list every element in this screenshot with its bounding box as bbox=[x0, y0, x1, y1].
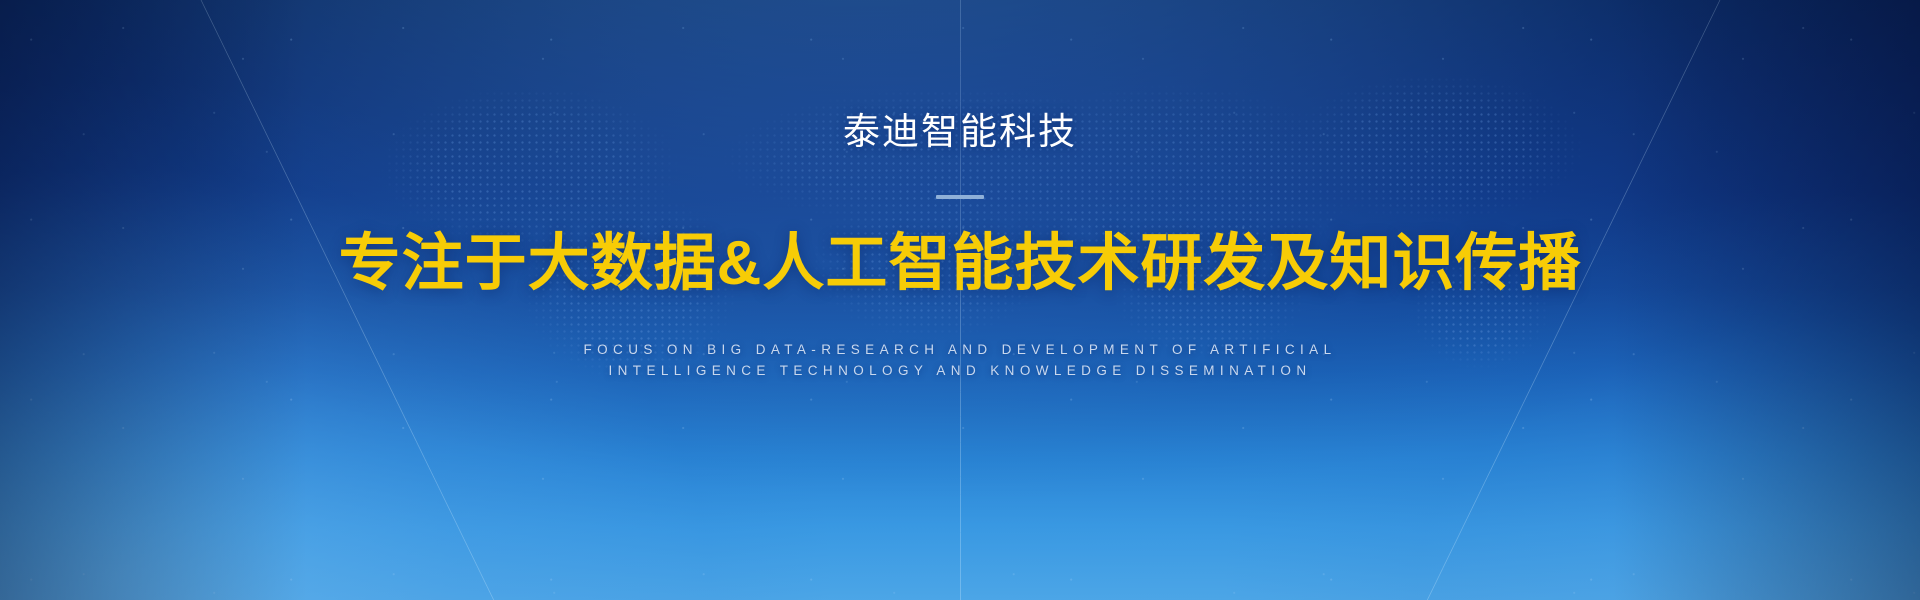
brand-name: 泰迪智能科技 bbox=[0, 112, 1920, 153]
hero-content: 泰迪智能科技 专注于大数据&人工智能技术研发及知识传播 FOCUS ON BIG… bbox=[0, 112, 1920, 381]
subtitle: FOCUS ON BIG DATA-RESEARCH AND DEVELOPME… bbox=[0, 339, 1920, 381]
title-divider bbox=[936, 195, 984, 199]
subtitle-line-2: INTELLIGENCE TECHNOLOGY AND KNOWLEDGE DI… bbox=[0, 360, 1920, 381]
subtitle-line-1: FOCUS ON BIG DATA-RESEARCH AND DEVELOPME… bbox=[0, 339, 1920, 360]
page-title: 专注于大数据&人工智能技术研发及知识传播 bbox=[0, 231, 1920, 298]
hero-banner: 泰迪智能科技 专注于大数据&人工智能技术研发及知识传播 FOCUS ON BIG… bbox=[0, 0, 1920, 600]
